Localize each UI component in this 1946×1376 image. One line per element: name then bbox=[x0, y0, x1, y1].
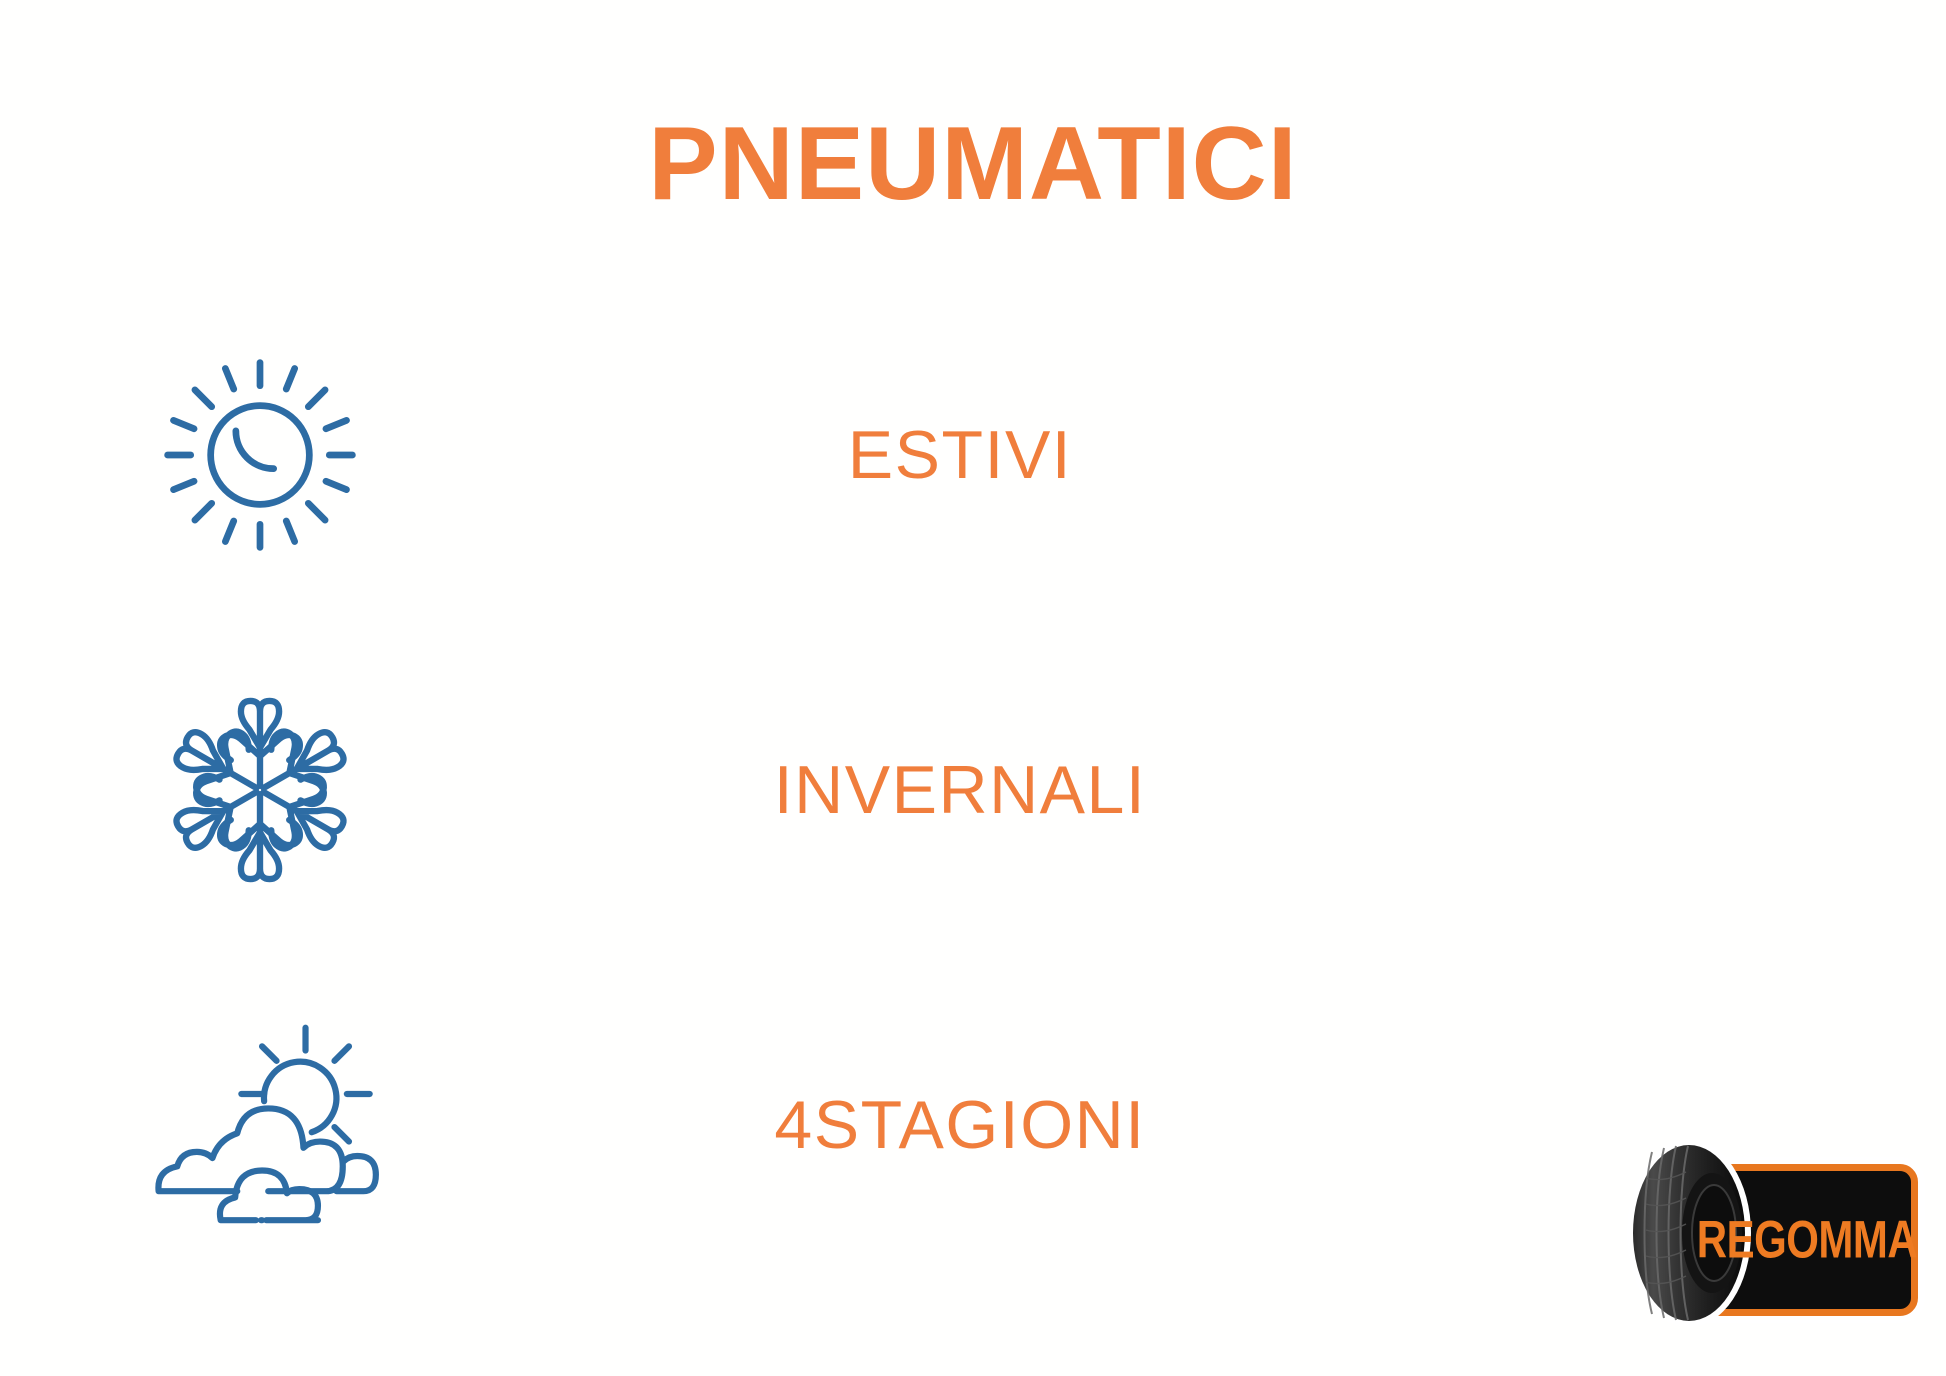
tire-type-row-4stagioni[interactable]: 4STAGIONI bbox=[0, 1000, 1400, 1250]
slide-canvas: PNEUMATICI bbox=[0, 0, 1946, 1376]
tire-type-label-4stagioni: 4STAGIONI bbox=[520, 1086, 1400, 1164]
tire-type-label-invernali: INVERNALI bbox=[520, 751, 1400, 829]
regomma-logo[interactable]: REGOMMA bbox=[1608, 1138, 1928, 1364]
page-title: PNEUMATICI bbox=[0, 112, 1946, 216]
sun-icon bbox=[0, 330, 520, 580]
sun-behind-cloud-icon bbox=[0, 1000, 520, 1250]
snowflake-icon bbox=[0, 665, 520, 915]
tire-type-label-estivi: ESTIVI bbox=[520, 416, 1400, 494]
tire-type-row-invernali[interactable]: INVERNALI bbox=[0, 665, 1400, 915]
logo-brand-text: REGOMMA bbox=[1704, 1183, 1910, 1298]
tire-type-row-estivi[interactable]: ESTIVI bbox=[0, 330, 1400, 580]
